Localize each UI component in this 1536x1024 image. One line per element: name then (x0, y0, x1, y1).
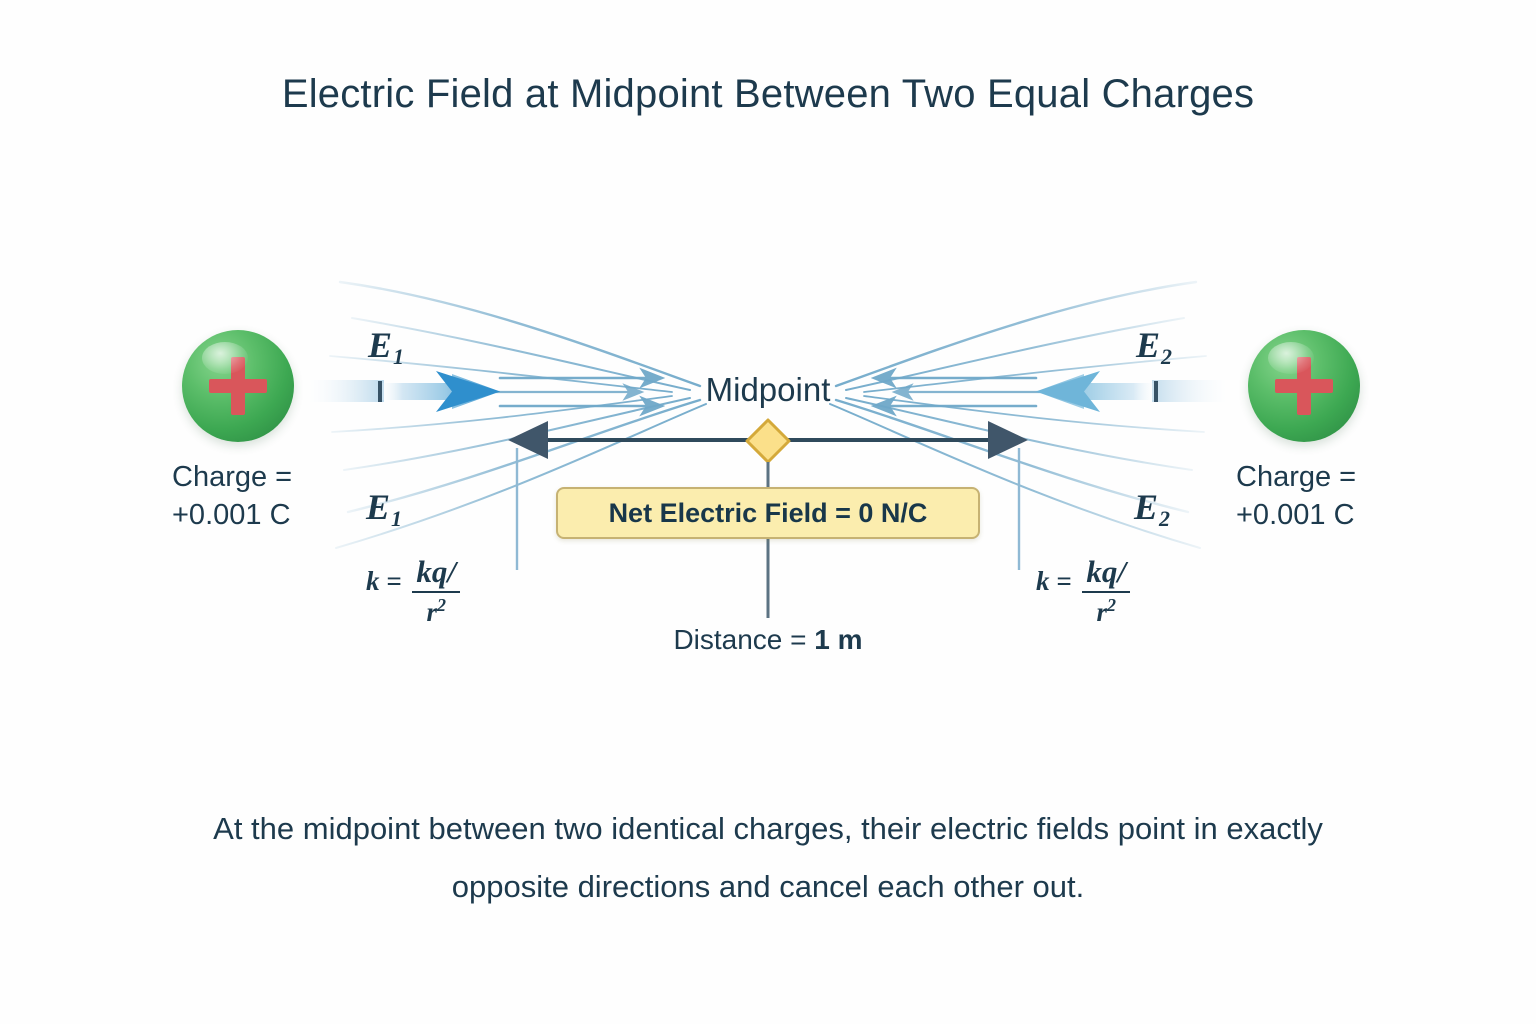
formula-left-den-base: r (426, 597, 437, 627)
charge-label-right-line2: +0.001 C (1236, 499, 1355, 531)
formula-left-den-exp: 2 (437, 595, 446, 615)
page-title: Electric Field at Midpoint Between Two E… (0, 72, 1536, 117)
charge-label-right: Charge =+0.001 C (1236, 458, 1356, 534)
midpoint-diamond-marker (747, 420, 789, 462)
charge-label-left-line2: +0.001 C (172, 499, 291, 531)
distance-dimension-line (508, 421, 1028, 459)
diagram-canvas: Electric Field at Midpoint Between Two E… (0, 0, 1536, 1024)
e2-label-bottom: E2 (1134, 486, 1169, 528)
formula-right-den-base: r (1096, 597, 1107, 627)
charge-label-left-line1: Charge = (172, 461, 292, 493)
e1-bottom-subscript: 1 (391, 506, 402, 531)
e1-label-top: E1 (368, 324, 403, 366)
formula-right-numerator: kq/ (1082, 556, 1130, 593)
midpoint-label: Midpoint (0, 371, 1536, 409)
sphere-highlight-left (202, 342, 248, 374)
formula-right: k = kq/ r2 (1036, 556, 1130, 626)
e1-label-bottom: E1 (366, 486, 401, 528)
sphere-highlight-right (1268, 342, 1314, 374)
caption-text: At the midpoint between two identical ch… (168, 800, 1368, 916)
distance-label-prefix: Distance = (673, 624, 814, 655)
e2-bottom-symbol: E (1134, 487, 1158, 527)
formula-right-fraction: kq/ r2 (1082, 556, 1130, 626)
formula-left-denominator: r2 (426, 593, 446, 626)
e1-bottom-symbol: E (366, 487, 390, 527)
charge-label-right-line1: Charge = (1236, 461, 1356, 493)
e2-label-top: E2 (1136, 324, 1171, 366)
distance-label: Distance = 1 m (0, 624, 1536, 656)
e2-top-subscript: 2 (1161, 344, 1172, 369)
e1-top-subscript: 1 (393, 344, 404, 369)
formula-left-numerator: kq/ (412, 556, 460, 593)
e1-top-symbol: E (368, 325, 392, 365)
distance-label-value: 1 m (814, 624, 862, 655)
e2-bottom-subscript: 2 (1159, 506, 1170, 531)
formula-left: k = kq/ r2 (366, 556, 460, 626)
formula-right-den-exp: 2 (1107, 595, 1116, 615)
charge-label-left: Charge =+0.001 C (172, 458, 292, 534)
e2-top-symbol: E (1136, 325, 1160, 365)
formula-right-denominator: r2 (1096, 593, 1116, 626)
formula-left-fraction: kq/ r2 (412, 556, 460, 626)
formula-right-lhs: k = (1036, 556, 1078, 597)
formula-left-lhs: k = (366, 556, 408, 597)
net-field-callout: Net Electric Field = 0 N/C (556, 487, 980, 539)
